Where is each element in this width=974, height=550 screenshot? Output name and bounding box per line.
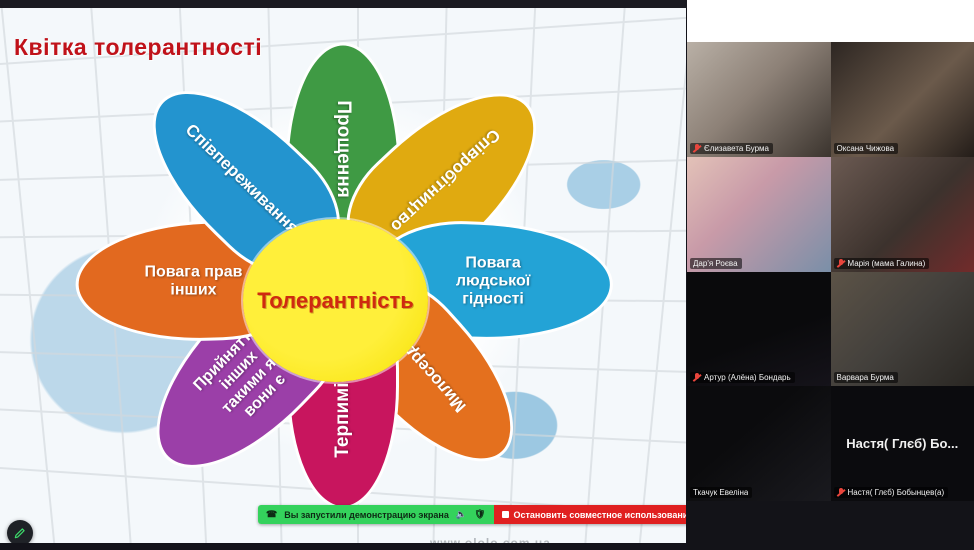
pencil-annotate-icon [13, 526, 27, 540]
participant-no-video-name: Настя( Глєб) Бо... [831, 386, 974, 501]
microphone-muted-icon [693, 373, 701, 382]
participant-tile[interactable]: Артур (Алёна) Бондарь [687, 272, 831, 387]
zoom-meeting-window: Квітка толерантності ПрощенняСпівробітни… [0, 0, 974, 550]
share-status-text: Вы запустили демонстрацию экрана [284, 510, 449, 520]
flower-center-label: Толерантність [257, 288, 414, 314]
annotate-button[interactable] [7, 520, 33, 543]
participant-tile[interactable]: Ткачук Евеліна [687, 386, 831, 501]
participant-name: Ткачук Евеліна [693, 488, 748, 497]
participant-video-feed [687, 157, 831, 272]
flower-center: Толерантність [243, 219, 428, 382]
participant-tile[interactable]: Варвара Бурма [831, 272, 974, 387]
participant-name-chip: Ткачук Евеліна [690, 487, 752, 498]
participant-video-feed [687, 272, 831, 387]
participant-name-chip: Дар'я Роєва [690, 258, 742, 269]
slide-watermark: www.ololo.com.ua [430, 536, 551, 543]
microphone-muted-icon [693, 144, 701, 153]
phone-icon: ☎ [266, 510, 277, 519]
microphone-muted-icon [837, 259, 845, 268]
participant-video-feed [687, 42, 831, 157]
participant-video-feed [831, 42, 974, 157]
participant-name: Марія (мама Галина) [848, 259, 926, 268]
participant-video-feed [831, 272, 974, 387]
participant-tile[interactable]: Єлизавета Бурма [687, 42, 831, 157]
participant-name-chip: Настя( Глєб) Бобынцев(а) [834, 487, 949, 498]
participant-name: Оксана Чижова [837, 144, 895, 153]
speaker-icon[interactable]: 🔈 [456, 510, 467, 519]
screen-share-toolbar[interactable]: ☎ Вы запустили демонстрацию экрана 🔈 🛡 О… [258, 505, 686, 524]
participant-tile[interactable]: Марія (мама Галина) [831, 157, 974, 272]
participant-name: Артур (Алёна) Бондарь [704, 373, 791, 382]
flower-petal-label: Повага прав інших [136, 263, 250, 299]
participant-name-chip: Оксана Чижова [834, 143, 899, 154]
participant-name-chip: Марія (мама Галина) [834, 258, 930, 269]
flower-petal-label: Повага людської гідності [437, 254, 549, 308]
flower-petal-label: Прощення [332, 93, 353, 207]
stop-share-button[interactable]: Остановить совместное использование [494, 505, 687, 524]
participant-name: Єлизавета Бурма [704, 144, 769, 153]
shield-icon[interactable]: 🛡 [474, 510, 485, 519]
stop-share-label: Остановить совместное использование [514, 510, 687, 520]
participant-video-feed [687, 386, 831, 501]
stop-square-icon [502, 511, 509, 518]
participant-name: Настя( Глєб) Бобынцев(а) [848, 488, 945, 497]
participant-name: Варвара Бурма [837, 373, 894, 382]
participant-tile[interactable]: Оксана Чижова [831, 42, 974, 157]
participant-name-chip: Варвара Бурма [834, 372, 898, 383]
gallery-bottom-spacer [687, 501, 974, 550]
participant-tile[interactable]: Дар'я Роєва [687, 157, 831, 272]
participant-name: Дар'я Роєва [693, 259, 738, 268]
gallery-top-spacer [687, 0, 974, 42]
participant-name-chip: Артур (Алёна) Бондарь [690, 372, 795, 383]
participant-video-feed [831, 157, 974, 272]
participant-tile[interactable]: Настя( Глєб) Бо...Настя( Глєб) Бобынцев(… [831, 386, 974, 501]
participant-gallery: Єлизавета БурмаОксана ЧижоваДар'я РоєваМ… [687, 42, 974, 501]
shared-screen-content[interactable]: Квітка толерантності ПрощенняСпівробітни… [0, 8, 686, 543]
microphone-muted-icon [837, 488, 845, 497]
participant-name-chip: Єлизавета Бурма [690, 143, 773, 154]
share-status-bar: ☎ Вы запустили демонстрацию экрана 🔈 🛡 [258, 505, 494, 524]
